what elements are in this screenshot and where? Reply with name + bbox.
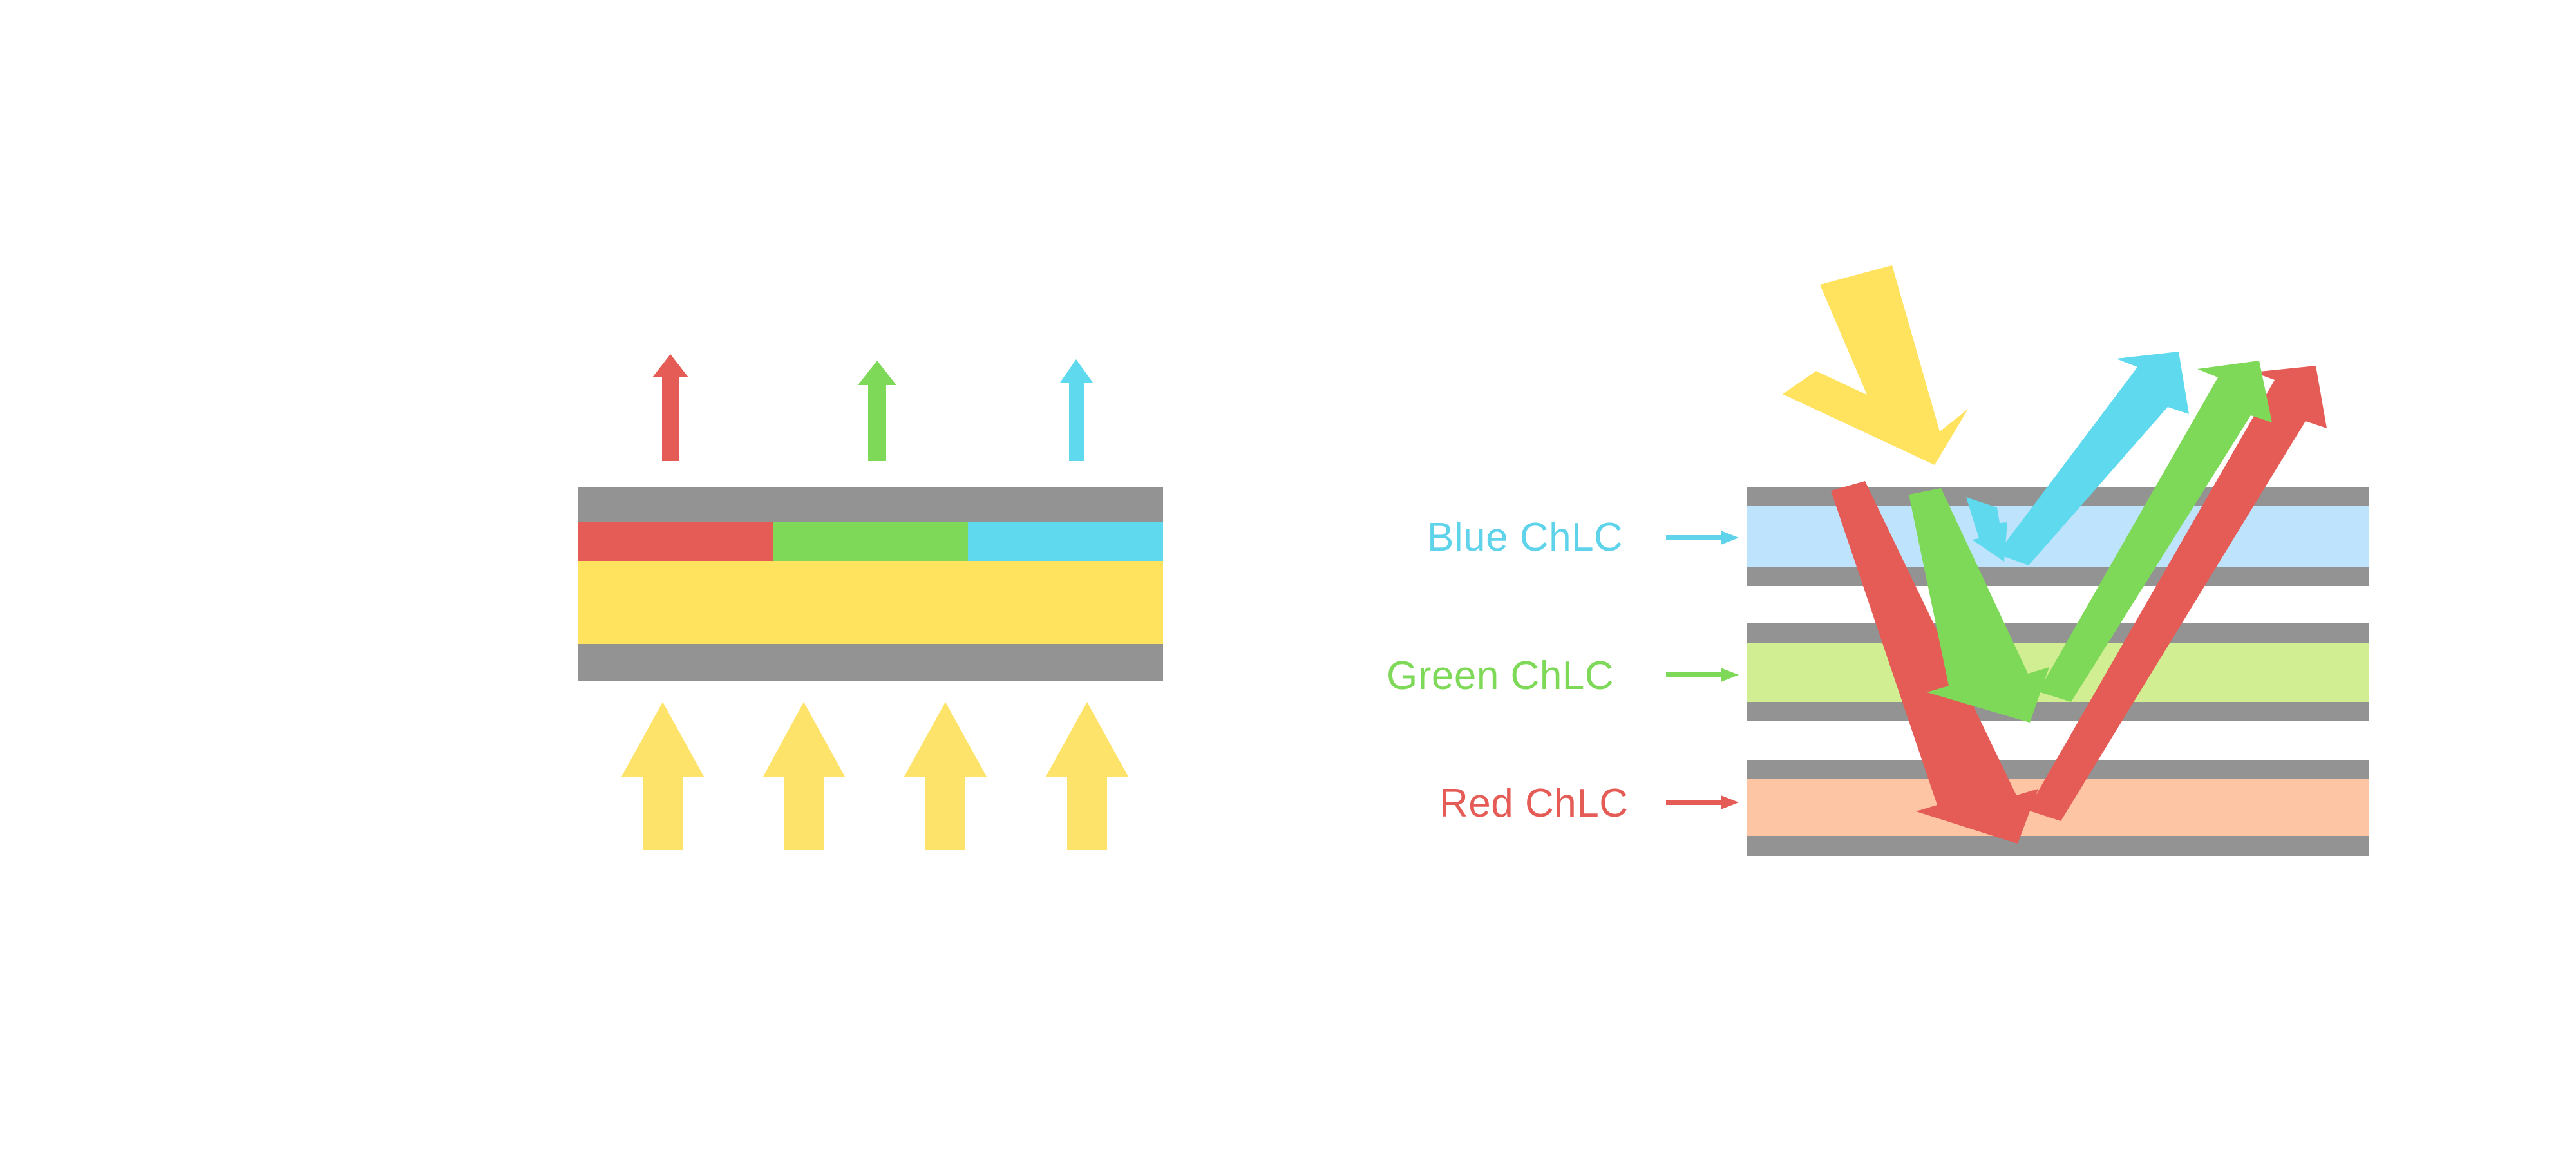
blue-chlc-label: Blue ChLC: [1427, 515, 1623, 560]
bottom-electrode-layer: [578, 644, 1163, 681]
emitted-blue-arrow: [1060, 359, 1093, 461]
red-filter-segment: [578, 522, 773, 561]
green-label-arrow-icon: [1666, 668, 1739, 682]
emitted-light-arrows: [652, 354, 1093, 461]
backlight-arrows: [621, 702, 1128, 850]
red-label-arrow-icon: [1666, 795, 1739, 809]
figure-panel: Blue ChLC Green ChLC Red ChLC: [0, 0, 2576, 1154]
right-reflective-stack: Blue ChLC Green ChLC Red ChLC: [1387, 265, 2369, 856]
green-cell-top-electrode: [1747, 623, 2369, 643]
backlight-layer: [578, 561, 1163, 644]
red-cell-bottom-electrode: [1747, 836, 2369, 856]
backlight-arrow: [763, 702, 845, 850]
figure-svg: Blue ChLC Green ChLC Red ChLC: [0, 0, 2576, 1154]
left-emissive-stack: [578, 354, 1163, 850]
incident-white-light-arrow: [1783, 265, 1968, 465]
blue-label-arrow-icon: [1666, 531, 1739, 545]
top-electrode-layer: [578, 487, 1163, 522]
green-cell-bottom-electrode: [1747, 702, 2369, 721]
red-reflected-ray: [2027, 366, 2327, 821]
chlc-labels: Blue ChLC Green ChLC Red ChLC: [1387, 515, 1739, 826]
backlight-arrow: [621, 702, 704, 850]
blue-filter-segment: [968, 522, 1163, 561]
red-chlc-label: Red ChLC: [1439, 781, 1628, 826]
backlight-arrow: [904, 702, 987, 850]
green-filter-segment: [773, 522, 968, 561]
emitted-green-arrow: [858, 361, 896, 461]
green-chlc-label: Green ChLC: [1387, 654, 1614, 698]
diagram-canvas: Blue ChLC Green ChLC Red ChLC: [0, 0, 2576, 1154]
backlight-arrow: [1046, 702, 1128, 850]
emissive-layer-stack: [578, 487, 1163, 681]
blue-cell-bottom-electrode: [1747, 567, 2369, 586]
emitted-red-arrow: [652, 354, 688, 461]
